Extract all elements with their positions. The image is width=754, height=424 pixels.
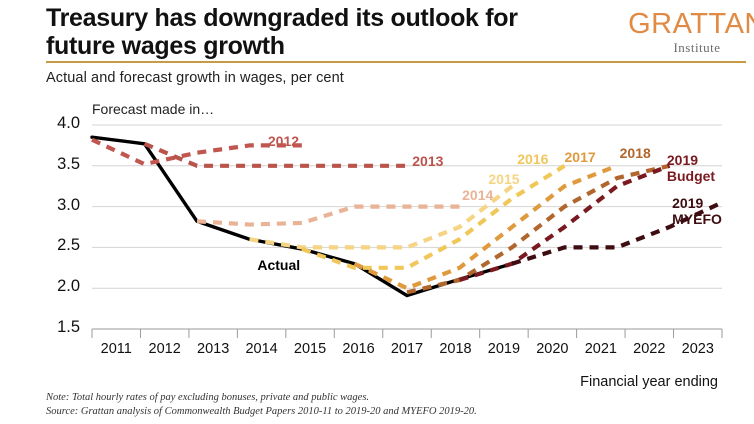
x-axis-tick-label: 2021 [577, 341, 625, 357]
x-axis-tick-label: 2017 [383, 341, 431, 357]
x-axis-tick-label: 2016 [335, 341, 383, 357]
x-axis-tick-label: 2020 [528, 341, 576, 357]
y-axis-tick-label: 3.5 [36, 155, 80, 174]
series-label-2012: 2012 [268, 133, 299, 149]
x-axis-tick-label: 2022 [625, 341, 673, 357]
series-label-2014: 2014 [462, 187, 493, 203]
series-label-line: 2019 [672, 195, 722, 211]
series-label-line: Budget [667, 168, 715, 184]
series-label-actual: Actual [257, 257, 300, 273]
series-label-2018: 2018 [620, 145, 651, 161]
series-label-line: 2019 [667, 152, 715, 168]
x-axis-tick-label: 2011 [92, 341, 140, 357]
series-label-line: MYEFO [672, 211, 722, 227]
chart-root: Treasury has downgraded its outlook for … [0, 0, 754, 424]
series-label-2017: 2017 [565, 149, 596, 165]
series-label-2016: 2016 [517, 151, 548, 167]
series-line-2014 [197, 207, 460, 225]
x-axis-tick-label: 2012 [141, 341, 189, 357]
y-axis-tick-label: 4.0 [36, 114, 80, 133]
series-label-2019-myefo: 2019MYEFO [672, 195, 722, 227]
x-axis-title: Financial year ending [580, 374, 718, 390]
y-axis-tick-label: 2.5 [36, 236, 80, 255]
plot-area: 4.03.53.02.52.01.5 201120122013201420152… [0, 0, 754, 424]
x-axis-tick-label: 2023 [674, 341, 722, 357]
footnotes: Note: Total hourly rates of pay excludin… [46, 391, 706, 419]
x-axis-tick-label: 2018 [431, 341, 479, 357]
y-axis-tick-label: 2.0 [36, 277, 80, 296]
x-axis-tick-label: 2015 [286, 341, 334, 357]
chart-svg [0, 0, 754, 424]
x-axis-tick-label: 2014 [238, 341, 286, 357]
series-label-2015: 2015 [488, 171, 519, 187]
series-label-2019-budget: 2019Budget [667, 152, 715, 184]
x-axis-tick-label: 2019 [480, 341, 528, 357]
note-line: Note: Total hourly rates of pay excludin… [46, 391, 706, 405]
series-label-2013: 2013 [412, 153, 443, 169]
x-axis-tick-label: 2013 [189, 341, 237, 357]
y-axis-tick-label: 1.5 [36, 318, 80, 337]
y-axis-tick-label: 3.0 [36, 196, 80, 215]
source-line: Source: Grattan analysis of Commonwealth… [46, 405, 706, 419]
